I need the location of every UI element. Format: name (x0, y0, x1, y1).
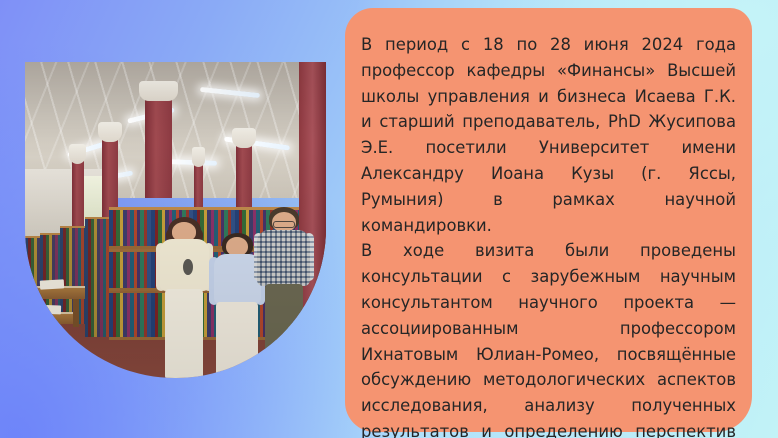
slide-canvas: В период с 18 по 28 июня 2024 года профе… (0, 0, 778, 438)
text-card: В период с 18 по 28 июня 2024 года профе… (345, 8, 752, 432)
library-photo (25, 62, 326, 378)
photo-scene (25, 62, 326, 378)
photo-vignette (25, 62, 326, 378)
paragraph-2: В ходе визита были проведены консультаци… (361, 238, 736, 438)
announcement-text: В период с 18 по 28 июня 2024 года профе… (361, 32, 736, 438)
paragraph-1: В период с 18 по 28 июня 2024 года профе… (361, 32, 736, 238)
